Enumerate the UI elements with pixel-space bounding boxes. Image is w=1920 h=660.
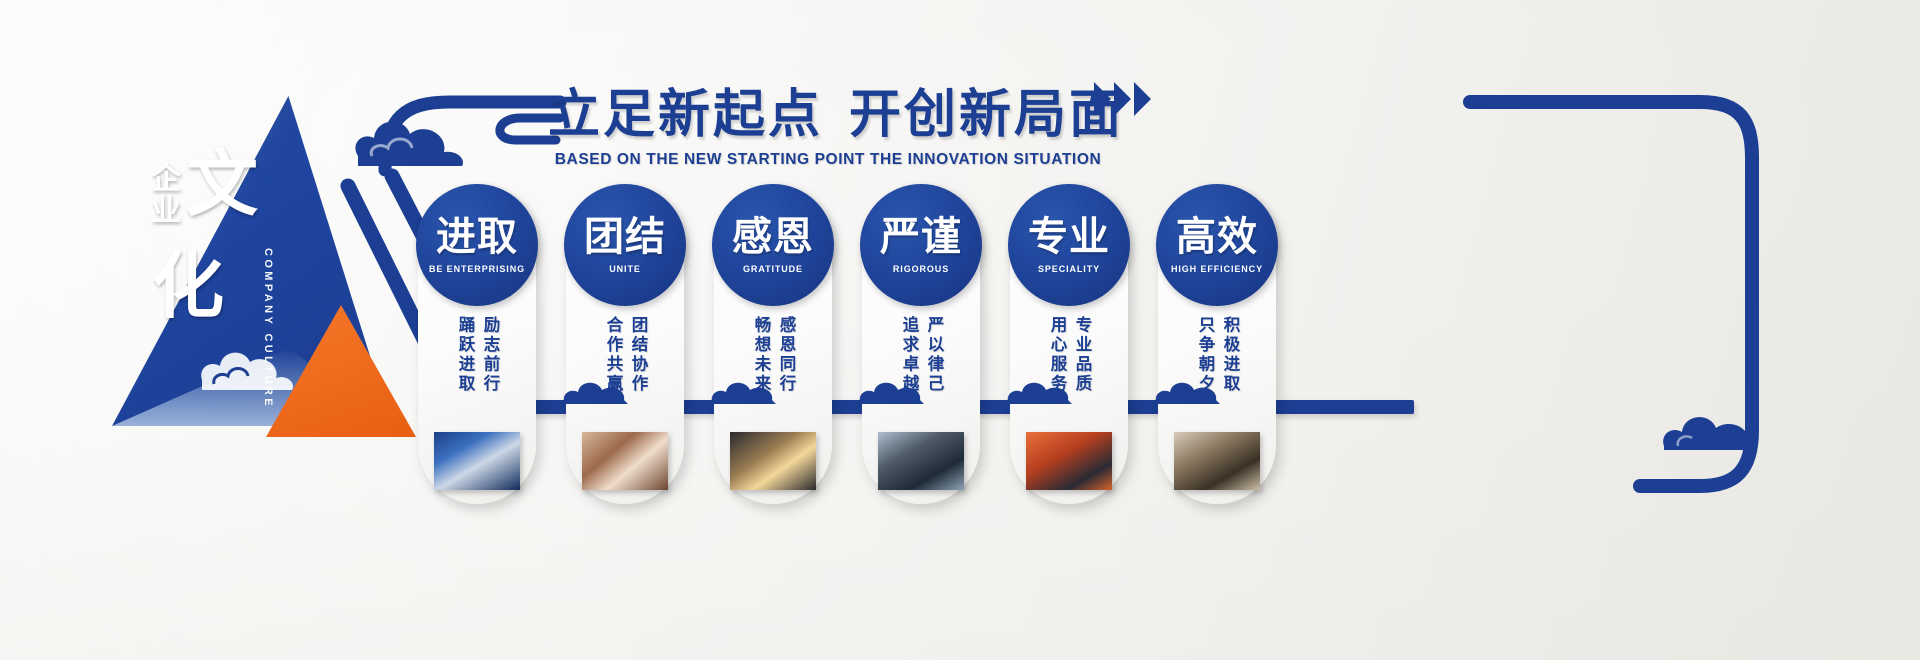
value-badge-english: HIGH EFFICIENCY (1171, 264, 1263, 274)
cloud-ornament-small (1154, 378, 1224, 404)
cloud-ornament-right (1660, 406, 1768, 450)
value-badge: 进取 BE ENTERPRISING (416, 184, 538, 306)
value-card: 严谨 RIGOROUS 严以律己 追求卓越 (862, 186, 980, 504)
value-badge-chinese: 严谨 (880, 216, 962, 258)
value-badge-english: UNITE (609, 264, 641, 274)
value-card: 专业 SPECIALITY 专业品质 用心服务 (1010, 186, 1128, 504)
chevron-right-icon (1114, 82, 1131, 116)
value-phrase-right: 严以律己 (923, 316, 944, 424)
logo-text-qiye: 企业 (146, 162, 180, 226)
value-badge-english: RIGOROUS (893, 264, 949, 274)
logo-text-wen: 文 (186, 148, 260, 222)
value-badge-chinese: 感恩 (732, 216, 814, 258)
value-badge-chinese: 团结 (584, 216, 666, 258)
cloud-ornament-small (710, 378, 780, 404)
value-phrase-left: 追求卓越 (898, 316, 919, 424)
value-phrase-right: 励志前行 (479, 316, 500, 424)
value-phrase-left: 踊跃进取 (454, 316, 475, 424)
value-badge: 团结 UNITE (564, 184, 686, 306)
value-badge-english: BE ENTERPRISING (429, 264, 525, 274)
value-badge: 专业 SPECIALITY (1008, 184, 1130, 306)
value-badge-chinese: 进取 (436, 216, 518, 258)
headline-chinese: 立足新起点开创新局面 (548, 72, 1108, 147)
value-vertical-phrases: 感恩同行 畅想未来 (714, 316, 832, 424)
value-badge-english: GRATITUDE (743, 264, 803, 274)
chevron-right-icon (1134, 82, 1151, 116)
value-card: 感恩 GRATITUDE 感恩同行 畅想未来 (714, 186, 832, 504)
value-card-row: 进取 BE ENTERPRISING 励志前行 踊跃进取 团结 UNITE 团结… (418, 186, 1276, 504)
headline-cn-left: 立足新起点 (548, 86, 823, 144)
value-badge-english: SPECIALITY (1038, 264, 1100, 274)
value-vertical-phrases: 励志前行 踊跃进取 (418, 316, 536, 424)
chevron-right-icon (1094, 82, 1111, 116)
value-badge-chinese: 专业 (1028, 216, 1110, 258)
value-photo (730, 432, 816, 490)
cloud-ornament-headline (350, 110, 470, 166)
value-vertical-phrases: 严以律己 追求卓越 (862, 316, 980, 424)
value-photo (582, 432, 668, 490)
value-phrase-right: 积极进取 (1219, 316, 1240, 424)
value-card: 团结 UNITE 团结协作 合作共赢 (566, 186, 684, 504)
value-badge-chinese: 高效 (1176, 216, 1258, 258)
chevron-group-icon (1094, 82, 1151, 116)
value-phrase-left: 畅想未来 (750, 316, 771, 424)
value-photo (1026, 432, 1112, 490)
headline-block: 立足新起点开创新局面 BASED ON THE NEW STARTING POI… (548, 72, 1108, 169)
value-badge: 感恩 GRATITUDE (712, 184, 834, 306)
value-card: 高效 HIGH EFFICIENCY 积极进取 只争朝夕 (1158, 186, 1276, 504)
value-phrase-right: 专业品质 (1071, 316, 1092, 424)
cloud-ornament-small (562, 378, 632, 404)
value-badge: 严谨 RIGOROUS (860, 184, 982, 306)
cloud-ornament-small (858, 378, 928, 404)
cloud-ornament-small (1006, 378, 1076, 404)
value-vertical-phrases: 团结协作 合作共赢 (566, 316, 684, 424)
value-card: 进取 BE ENTERPRISING 励志前行 踊跃进取 (418, 186, 536, 504)
value-photo (1174, 432, 1260, 490)
headline-english: BASED ON THE NEW STARTING POINT THE INNO… (548, 151, 1108, 169)
value-photo (434, 432, 520, 490)
value-phrase-left: 用心服务 (1046, 316, 1067, 424)
value-phrase-right: 团结协作 (627, 316, 648, 424)
culture-wall-scene: 企业 文 化 COMPANY CULTURE 立足新起点开创新局面 BASED … (0, 0, 1920, 660)
value-photo (878, 432, 964, 490)
value-phrase-right: 感恩同行 (775, 316, 796, 424)
headline-cn-right: 开创新局面 (849, 86, 1124, 144)
logo-text-hua: 化 (152, 250, 226, 324)
value-phrase-left: 合作共赢 (602, 316, 623, 424)
value-vertical-phrases: 专业品质 用心服务 (1010, 316, 1128, 424)
cloud-ornament-logo (196, 336, 304, 390)
value-badge: 高效 HIGH EFFICIENCY (1156, 184, 1278, 306)
value-phrase-left: 只争朝夕 (1194, 316, 1215, 424)
value-vertical-phrases: 积极进取 只争朝夕 (1158, 316, 1276, 424)
